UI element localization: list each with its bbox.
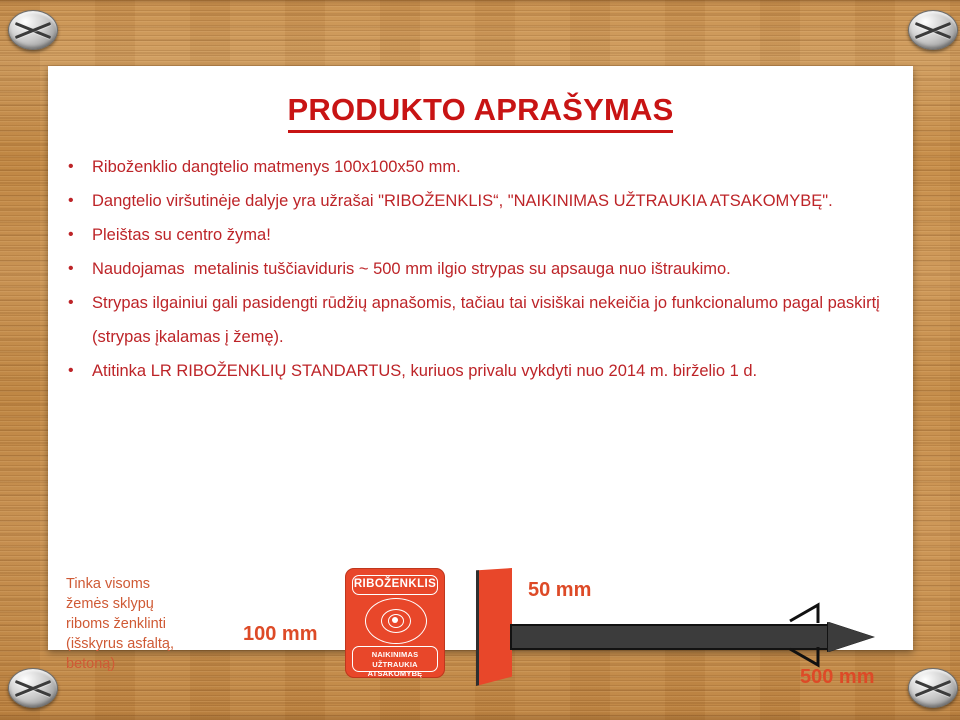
- metal-rod-body: [510, 624, 830, 650]
- screw-icon-bottom-right: [908, 668, 958, 708]
- page-title-text: PRODUKTO APRAŠYMAS: [288, 92, 674, 133]
- list-item-text: Atitinka LR RIBOŽENKLIŲ STANDARTUS, kuri…: [92, 354, 908, 388]
- metal-rod-tip: [828, 622, 874, 652]
- bullet-list: • Riboženklio dangtelio matmenys 100x100…: [62, 150, 908, 388]
- screw-icon-top-left: [8, 10, 58, 50]
- cap-bottom-label-line2: ATSAKOMYBĘ: [353, 669, 437, 679]
- list-item: • Naudojamas metalinis tuščiaviduris ~ 5…: [62, 252, 908, 286]
- slide-canvas: PRODUKTO APRAŠYMAS • Riboženklio dangtel…: [0, 0, 960, 720]
- bullet-marker-icon: •: [68, 354, 92, 388]
- product-diagram: Tinka visoms žemės sklypų riboms ženklin…: [48, 484, 913, 650]
- marker-cap-side-view: [476, 568, 512, 686]
- list-item-text: Naudojamas metalinis tuščiaviduris ~ 500…: [92, 252, 908, 286]
- cap-center-mark-icon: [392, 617, 398, 623]
- bullet-marker-icon: •: [68, 286, 92, 320]
- screw-icon-top-right: [908, 10, 958, 50]
- list-item-text: Strypas ilgainiui gali pasidengti rūdžių…: [92, 286, 908, 354]
- list-item: • Dangtelio viršutinėje dalyje yra užraš…: [62, 184, 908, 218]
- dimension-label-width: 100 mm: [243, 623, 318, 646]
- bullet-marker-icon: •: [68, 218, 92, 252]
- list-item-text: Pleištas su centro žyma!: [92, 218, 908, 252]
- screw-icon-bottom-left: [8, 668, 58, 708]
- list-item: • Atitinka LR RIBOŽENKLIŲ STANDARTUS, ku…: [62, 354, 908, 388]
- bullet-marker-icon: •: [68, 252, 92, 286]
- dimension-label-thickness: 50 mm: [528, 579, 591, 602]
- list-item: • Riboženklio dangtelio matmenys 100x100…: [62, 150, 908, 184]
- list-item-text: Riboženklio dangtelio matmenys 100x100x5…: [92, 150, 908, 184]
- list-item-text: Dangtelio viršutinėje dalyje yra užrašai…: [92, 184, 908, 218]
- marker-cap-front-view: RIBOŽENKLIS NAIKINIMAS UŽTRAUKIA ATSAKOM…: [345, 568, 445, 678]
- bullet-marker-icon: •: [68, 184, 92, 218]
- cap-top-label: RIBOŽENKLIS: [352, 575, 438, 595]
- diagram-caption: Tinka visoms žemės sklypų riboms ženklin…: [66, 574, 236, 674]
- cap-bottom-label: NAIKINIMAS UŽTRAUKIA ATSAKOMYBĘ: [352, 646, 438, 672]
- content-card: PRODUKTO APRAŠYMAS • Riboženklio dangtel…: [48, 66, 913, 650]
- bullet-marker-icon: •: [68, 150, 92, 184]
- list-item: • Pleištas su centro žyma!: [62, 218, 908, 252]
- anti-extraction-barb-top-icon: [788, 601, 828, 623]
- list-item: • Strypas ilgainiui gali pasidengti rūdž…: [62, 286, 908, 354]
- dimension-label-length: 500 mm: [800, 666, 875, 689]
- cap-bottom-label-line1: NAIKINIMAS UŽTRAUKIA: [353, 650, 437, 669]
- page-title: PRODUKTO APRAŠYMAS: [48, 92, 913, 128]
